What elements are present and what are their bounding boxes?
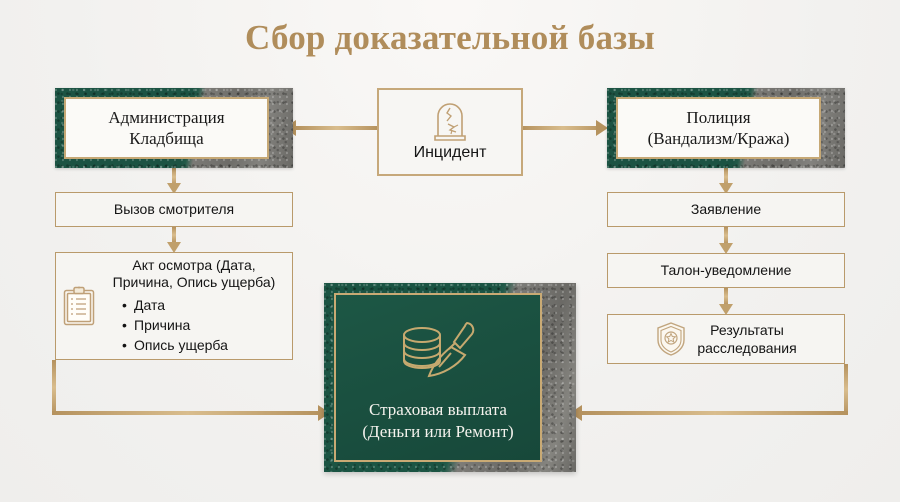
node-insurance-payout-inner: Страховая выплата (Деньги или Ремонт) [334,293,542,462]
step-investigation-results-line1: Результаты [697,321,796,339]
list-item: Причина [134,315,284,335]
node-administration-line1: Администрация [108,107,224,128]
diagram-canvas: Сбор доказательной базы Администрация Кл… [0,0,900,502]
connector-claim-to-ticket [724,227,728,244]
step-investigation-results-line2: расследования [697,339,796,357]
police-badge-icon [655,321,687,357]
step-inspection-act-bullets: Дата Причина Опись ущерба [104,295,284,356]
node-incident-label: Инцидент [414,144,487,162]
list-item: Дата [134,295,284,315]
connector-ticket-to-result [724,288,728,305]
node-administration[interactable]: Администрация Кладбища [55,88,293,168]
node-administration-line2: Кладбища [108,128,224,149]
node-insurance-payout-line2: (Деньги или Ремонт) [362,421,513,443]
step-statement-label: Заявление [691,200,761,218]
connector-incident-to-police [522,126,604,130]
step-inspection-act-heading-line1: Акт осмотра (Дата, [104,257,284,275]
node-police[interactable]: Полиция (Вандализм/Кража) [607,88,845,168]
connector-call-to-act [172,227,176,243]
step-call-caretaker-label: Вызов смотрителя [114,200,234,218]
connector-incident-to-administration [296,126,378,130]
step-notification-coupon-label: Талон-уведомление [661,261,792,279]
connector-result-down [844,364,848,415]
list-item: Опись ущерба [134,335,284,355]
node-insurance-payout-line1: Страховая выплата [362,399,513,421]
clipboard-icon [62,285,96,327]
step-inspection-act-heading-line2: Причина, Опись ущерба) [104,274,284,292]
step-statement[interactable]: Заявление [607,192,845,227]
page-title: Сбор доказательной базы [0,18,900,58]
node-incident[interactable]: Инцидент [377,88,523,176]
node-police-line1: Полиция [648,107,790,128]
step-inspection-act[interactable]: Акт осмотра (Дата, Причина, Опись ущерба… [55,252,293,360]
cracked-gravestone-icon [427,98,473,142]
node-police-line2: (Вандализм/Кража) [648,128,790,149]
step-call-caretaker[interactable]: Вызов смотрителя [55,192,293,227]
coins-and-trowel-icon [395,313,481,393]
step-investigation-results[interactable]: Результаты расследования [607,314,845,364]
node-administration-inner: Администрация Кладбища [64,97,269,159]
connector-act-to-payout [52,411,324,415]
connector-result-to-payout [582,411,848,415]
node-police-inner: Полиция (Вандализм/Кража) [616,97,821,159]
connector-act-down [52,360,56,415]
step-notification-coupon[interactable]: Талон-уведомление [607,253,845,288]
node-insurance-payout[interactable]: Страховая выплата (Деньги или Ремонт) [324,283,576,472]
